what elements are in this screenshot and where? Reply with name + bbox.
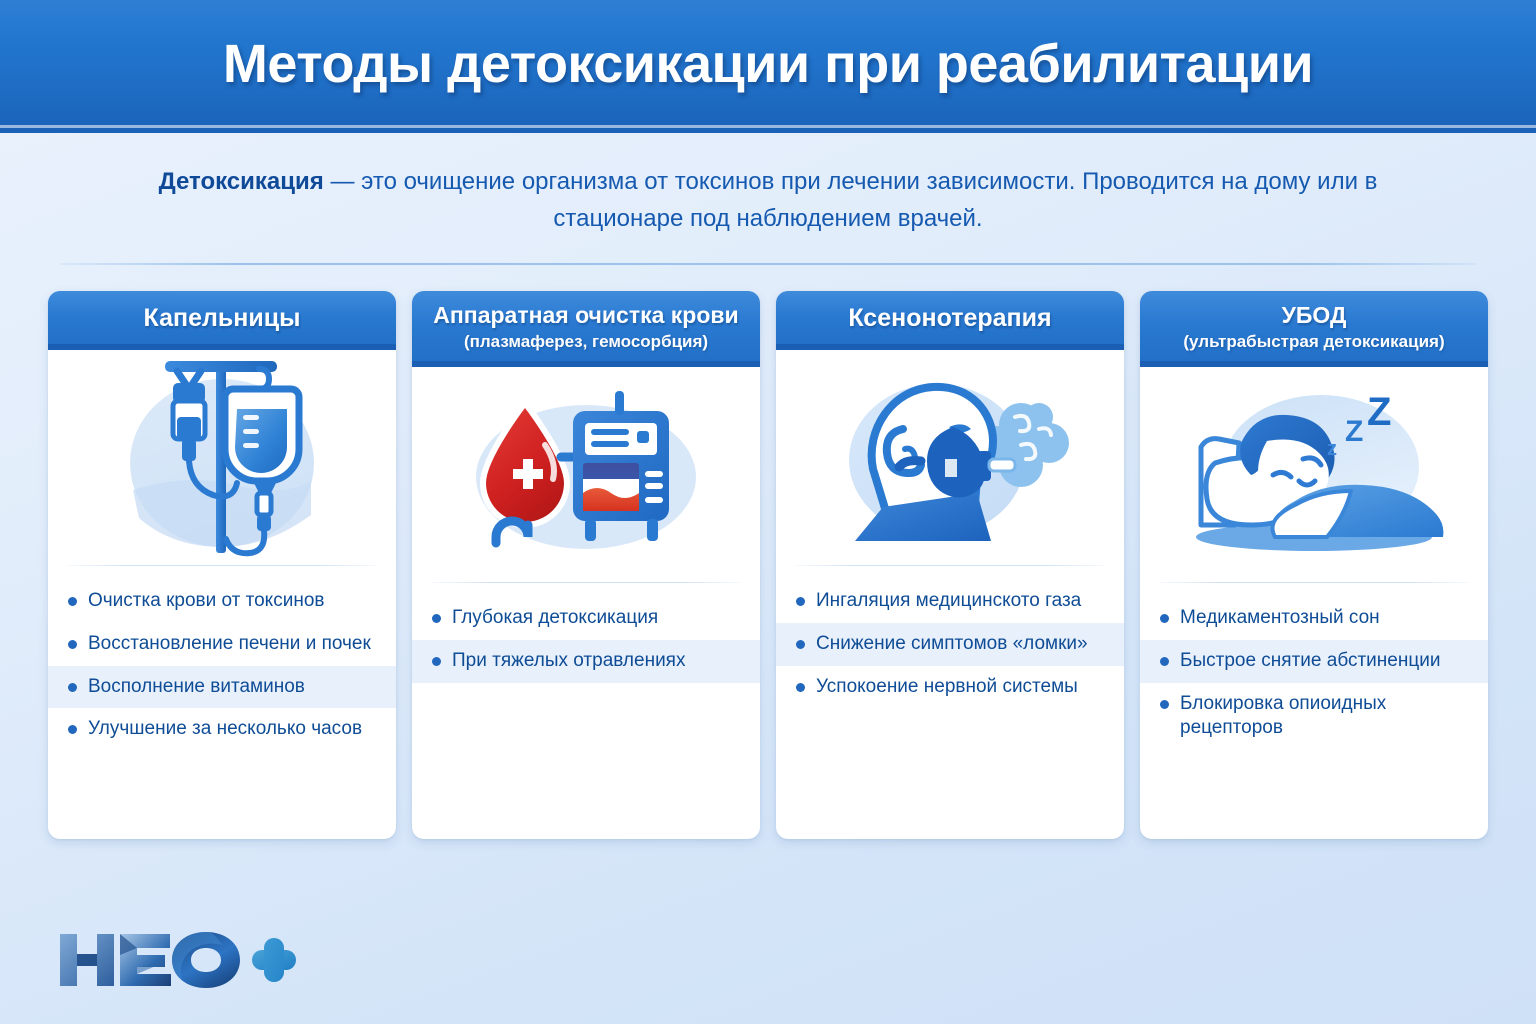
card-bullet-list: Очистка крови от токсинов Восстановление… <box>48 566 396 839</box>
intro-rest: это очищение организма от токсинов при л… <box>361 168 1377 232</box>
card-bullet-list: Медикаментозный сон Быстрое снятие абсти… <box>1140 583 1488 839</box>
list-item: Быстрое снятие абстиненции <box>1140 640 1488 683</box>
svg-text:Z: Z <box>1345 415 1363 448</box>
card-xenon-therapy[interactable]: Ксенонотерапия <box>776 291 1124 839</box>
bullet-text: Успокоение нервной системы <box>816 675 1106 700</box>
card-title: Аппаратная очистка крови <box>420 302 752 328</box>
list-item: Снижение симптомов «ломки» <box>776 623 1124 666</box>
list-item: При тяжелых отравлениях <box>412 640 760 683</box>
page-title: Методы детоксикации при реабилитации <box>223 33 1313 95</box>
bullet-dot-icon <box>68 597 77 606</box>
bullet-dot-icon <box>796 640 805 649</box>
card-ubod[interactable]: УБОД (ультрабыстрая детоксикация) <box>1140 291 1488 839</box>
intro-paragraph: Детоксикация — это очищение организма от… <box>150 163 1386 237</box>
svg-text:z: z <box>1327 438 1337 460</box>
blood-purification-icon <box>412 367 760 582</box>
card-subtitle: (ультрабыстрая детоксикация) <box>1148 332 1480 352</box>
card-header: УБОД (ультрабыстрая детоксикация) <box>1140 291 1488 367</box>
title-band: Методы детоксикации при реабилитации <box>0 0 1536 133</box>
bullet-text: Восстановление печени и почек <box>88 632 378 657</box>
list-item: Восстановление печени и почек <box>48 623 396 666</box>
list-item: Ингаляция медицинското газа <box>776 580 1124 623</box>
card-bullet-list: Ингаляция медицинското газа Снижение сим… <box>776 566 1124 839</box>
neo-plus-logo <box>56 924 296 996</box>
bullet-text: При тяжелых отравлениях <box>452 649 742 674</box>
bullet-text: Медикаментозный сон <box>1180 606 1470 631</box>
card-header: Капельницы <box>48 291 396 350</box>
intro-block: Детоксикация — это очищение организма от… <box>0 133 1536 237</box>
sleeping-patient-icon: Z Z z <box>1140 367 1488 582</box>
list-item: Улучшение за несколько часов <box>48 708 396 751</box>
list-item: Глубокая детоксикация <box>412 597 760 640</box>
footer <box>0 906 1536 1024</box>
bullet-text: Быстрое снятие абстиненции <box>1180 649 1470 674</box>
list-item: Медикаментозный сон <box>1140 597 1488 640</box>
card-title: Капельницы <box>58 304 386 333</box>
list-item: Успокоение нервной системы <box>776 666 1124 709</box>
intro-dash: — <box>324 168 361 195</box>
card-blood-purification[interactable]: Аппаратная очистка крови (плазмаферез, г… <box>412 291 760 839</box>
bullet-text: Очистка крови от токсинов <box>88 589 378 614</box>
card-drips[interactable]: Капельницы <box>48 291 396 839</box>
list-item: Блокировка опиоидных рецепторов <box>1140 683 1488 750</box>
card-title: УБОД <box>1148 302 1480 328</box>
iv-drip-icon <box>48 350 396 565</box>
card-subtitle: (плазмаферез, гемосорбция) <box>420 332 752 352</box>
card-title: Ксенонотерапия <box>786 304 1114 333</box>
list-item: Восполнение витаминов <box>48 666 396 709</box>
cards-row: Капельницы <box>0 265 1536 906</box>
bullet-dot-icon <box>432 657 441 666</box>
bullet-dot-icon <box>68 725 77 734</box>
svg-text:Z: Z <box>1367 390 1391 434</box>
bullet-dot-icon <box>796 597 805 606</box>
bullet-text: Снижение симптомов «ломки» <box>816 632 1106 657</box>
bullet-text: Ингаляция медицинското газа <box>816 589 1106 614</box>
infographic-page: Методы детоксикации при реабилитации Дет… <box>0 0 1536 1024</box>
bullet-text: Улучшение за несколько часов <box>88 717 378 742</box>
bullet-text: Блокировка опиоидных рецепторов <box>1180 692 1470 741</box>
card-header: Ксенонотерапия <box>776 291 1124 350</box>
bullet-dot-icon <box>68 640 77 649</box>
bullet-text: Восполнение витаминов <box>88 675 378 700</box>
bullet-dot-icon <box>432 614 441 623</box>
bullet-dot-icon <box>796 683 805 692</box>
list-item: Очистка крови от токсинов <box>48 580 396 623</box>
bullet-dot-icon <box>1160 614 1169 623</box>
intro-lead-term: Детоксикация <box>159 168 324 195</box>
card-header: Аппаратная очистка крови (плазмаферез, г… <box>412 291 760 367</box>
bullet-dot-icon <box>1160 700 1169 709</box>
inhalation-mask-icon <box>776 350 1124 565</box>
bullet-text: Глубокая детоксикация <box>452 606 742 631</box>
card-bullet-list: Глубокая детоксикация При тяжелых отравл… <box>412 583 760 839</box>
bullet-dot-icon <box>1160 657 1169 666</box>
bullet-dot-icon <box>68 683 77 692</box>
